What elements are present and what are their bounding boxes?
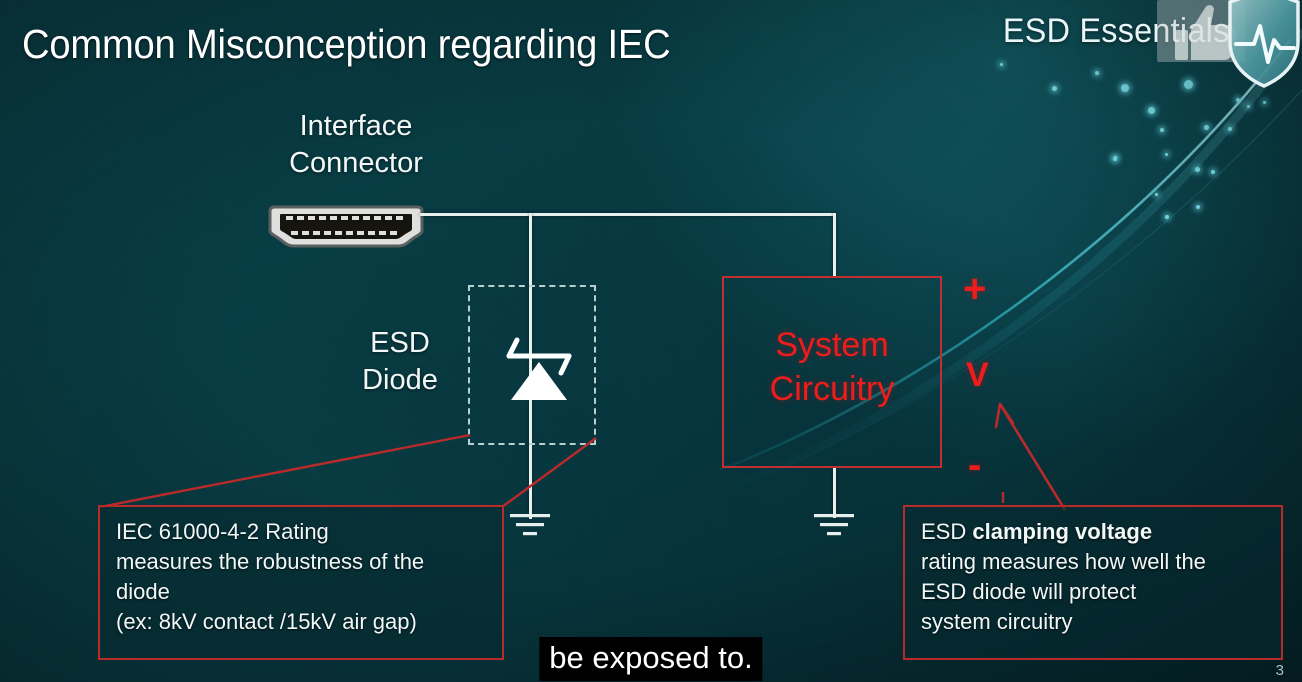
zener-diode-icon [489,318,589,413]
callout-right-line2: rating measures how well the [921,547,1269,577]
callout-left-line4: (ex: 8kV contact /15kV air gap) [116,607,490,637]
polarity-plus-label: + [963,267,986,312]
callout-right-lead: ESD [921,519,972,544]
page-number: 3 [1276,662,1284,679]
video-caption: be exposed to. [539,637,762,681]
system-circuitry-box: System Circuitry [722,276,942,468]
hdmi-connector-icon [266,205,426,249]
callout-left-line3: diode [116,577,490,607]
callout-right-line3: ESD diode will protect [921,577,1269,607]
polarity-minus-label: - [968,443,981,488]
system-circuitry-label: System Circuitry [724,324,940,411]
shield-heartbeat-icon [1228,0,1300,88]
callout-right-line4: system circuitry [921,607,1269,637]
callout-right-bold: clamping voltage [972,519,1152,544]
callout-clamping-voltage: ESD clamping voltage rating measures how… [903,505,1283,660]
voltage-label: V [966,356,989,395]
ground-symbol-icon [505,512,555,545]
callout-iec-rating: IEC 61000-4-2 Rating measures the robust… [98,505,504,660]
ground-symbol-icon [809,512,859,545]
wire-system-to-ground [833,466,836,518]
slide-canvas: Common Misconception regarding IEC ESD E… [0,0,1302,682]
callout-right-line1: ESD clamping voltage [921,517,1269,547]
page-title: Common Misconception regarding IEC [22,21,671,68]
connector-label: Interface Connector [246,108,466,182]
wire-to-system-box [833,213,836,278]
wire-connector-to-system [420,213,836,216]
callout-left-line2: measures the robustness of the [116,547,490,577]
esd-diode-label: ESD Diode [330,325,470,399]
callout-left-line1: IEC 61000-4-2 Rating [116,517,490,547]
